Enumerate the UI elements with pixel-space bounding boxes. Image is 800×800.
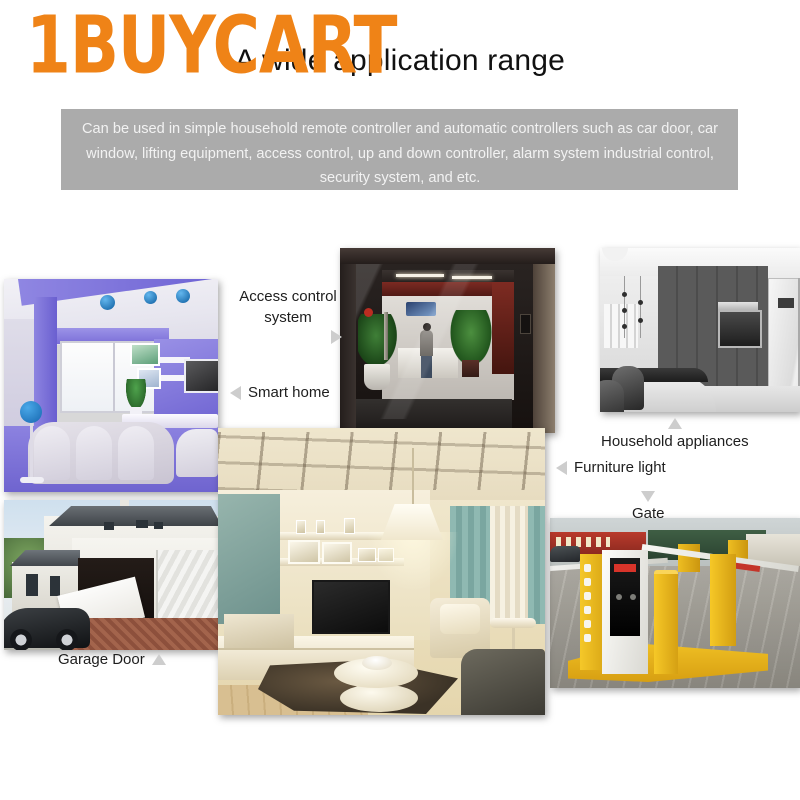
- led-display: [614, 564, 636, 572]
- hanging-bead: [622, 292, 627, 297]
- photo-smart-home: [4, 279, 218, 492]
- callout-garage-door-label: Garage Door: [58, 650, 145, 669]
- water-dispenser: [778, 298, 794, 308]
- sofa: [28, 422, 174, 484]
- photo-access-control: [340, 248, 555, 433]
- description-panel: Can be used in simple household remote c…: [61, 109, 738, 190]
- vent-slot: [584, 606, 591, 614]
- teal-curtain: [528, 506, 545, 624]
- lamp-cord: [412, 448, 414, 506]
- sheer-curtain: [490, 506, 528, 624]
- photo-garage-door-content: [4, 500, 218, 650]
- photo-household-appliances: [600, 248, 800, 412]
- dormer-window: [104, 522, 114, 530]
- callout-garage-door: Garage Door: [58, 650, 166, 669]
- parked-car: [4, 608, 90, 648]
- callout-access-control-line2: system: [228, 308, 348, 327]
- callout-household-appliances-label: Household appliances: [601, 432, 749, 451]
- page-title: A wide application range: [0, 44, 800, 78]
- lamp-stem: [30, 423, 33, 479]
- blue-lamp: [20, 401, 42, 423]
- house-window: [50, 576, 60, 596]
- cushion: [34, 426, 70, 480]
- arrow-left-icon: [230, 386, 241, 400]
- display-items: [224, 614, 294, 648]
- grey-sofa: [461, 649, 545, 715]
- television: [184, 359, 218, 393]
- cushion: [76, 426, 112, 480]
- callout-furniture-light: Furniture light: [556, 458, 666, 477]
- dormer-window: [136, 520, 148, 528]
- hanging-bead: [638, 318, 643, 323]
- photo-gate: [550, 518, 800, 688]
- coffee-table-lower: [340, 684, 418, 712]
- decorative-bowl: [362, 656, 392, 670]
- picture-frame: [322, 542, 352, 564]
- closed-garage-door: [156, 550, 218, 628]
- shelf-vase: [296, 520, 306, 534]
- photo-gate-content: [550, 518, 800, 688]
- armchair-cushion: [440, 604, 480, 634]
- photo-access-control-content: [340, 248, 555, 433]
- glass-reflection: [356, 264, 512, 419]
- hanging-bead: [622, 308, 627, 313]
- armchair: [176, 429, 218, 477]
- door-header: [340, 248, 555, 264]
- photo-furniture-light: [218, 428, 545, 715]
- window-blinds: [604, 304, 638, 348]
- pendant-orb-icon: [100, 295, 115, 310]
- refrigerator: [768, 278, 800, 402]
- side-table: [490, 618, 536, 628]
- callout-gate-label: Gate: [632, 504, 665, 523]
- distant-car: [550, 546, 580, 562]
- callout-access-control: Access control system: [228, 287, 348, 344]
- callout-access-control-line1: Access control: [228, 287, 348, 306]
- house-window: [26, 574, 38, 596]
- arrow-left-icon: [556, 461, 567, 475]
- vent-slot: [584, 634, 591, 642]
- card-reader: [520, 314, 531, 334]
- arrow-down-icon: [641, 491, 655, 502]
- dormer-window: [154, 522, 163, 529]
- hanging-cord: [640, 276, 641, 338]
- door-jamb-right: [533, 248, 555, 433]
- machine-button[interactable]: [616, 594, 622, 600]
- callout-furniture-light-label: Furniture light: [574, 458, 666, 477]
- vent-slot: [584, 620, 591, 628]
- shelf-vase: [316, 520, 325, 534]
- page-root: A wide application range 1BUYCART Can be…: [0, 0, 800, 800]
- lamp-glow: [368, 532, 458, 590]
- oven-control-panel: [718, 302, 758, 310]
- callout-smart-home: Smart home: [230, 383, 330, 402]
- barrier-post-middle: [654, 574, 678, 674]
- vent-slot: [584, 564, 591, 572]
- callout-smart-home-label: Smart home: [248, 383, 330, 402]
- arrow-right-icon: [331, 330, 342, 344]
- photo-furniture-light-content: [218, 428, 545, 715]
- hanging-bead: [622, 324, 627, 329]
- vent-slot: [584, 578, 591, 586]
- barrier-post: [678, 544, 700, 572]
- arrow-up-icon: [668, 418, 682, 429]
- callout-gate: Gate: [632, 491, 665, 523]
- description-text: Can be used in simple household remote c…: [75, 117, 725, 191]
- photo-smart-home-content: [4, 279, 218, 492]
- picture-frame: [288, 540, 320, 564]
- potted-plant: [126, 379, 146, 409]
- photo-household-appliances-content: [600, 248, 800, 412]
- lamp-base: [20, 477, 44, 483]
- wall-picture: [130, 343, 160, 366]
- pendant-orb-icon: [144, 291, 157, 304]
- pendant-orb-icon: [176, 289, 190, 303]
- arrow-up-icon: [152, 654, 166, 665]
- car-wheel: [56, 629, 78, 650]
- cabinet-seam: [218, 648, 414, 650]
- barrier-post-right: [710, 554, 736, 646]
- machine-button[interactable]: [630, 594, 636, 600]
- car-wheel: [10, 629, 32, 650]
- green-wall-panel: [218, 494, 280, 624]
- vent-slot: [584, 592, 591, 600]
- built-in-oven: [718, 310, 762, 348]
- shelf-vase: [344, 518, 355, 534]
- cushion: [118, 426, 154, 480]
- photo-garage-door: [4, 500, 218, 650]
- hanging-bead: [638, 300, 643, 305]
- bar-stool: [600, 380, 624, 412]
- callout-household-appliances: Household appliances: [601, 418, 749, 451]
- ceiling-grid: [218, 432, 545, 490]
